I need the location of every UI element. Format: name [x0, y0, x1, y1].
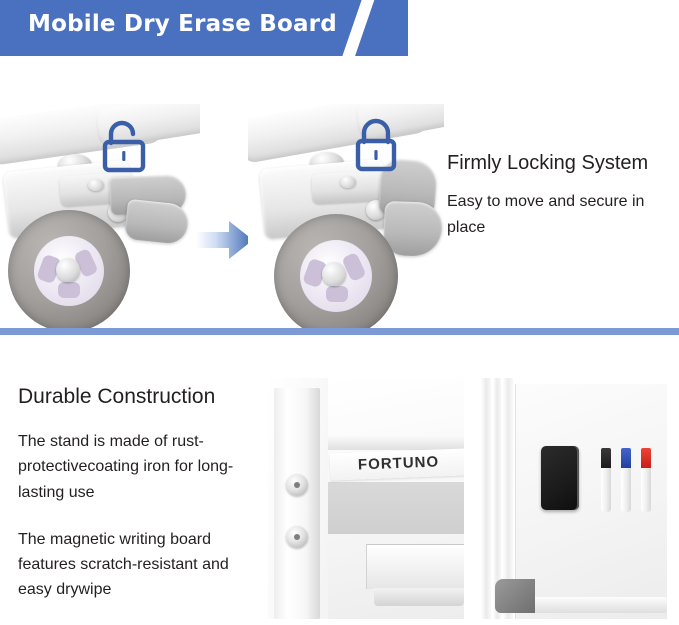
caster-locked-photo [248, 104, 444, 330]
blue-marker [621, 448, 631, 512]
marker-barrel [601, 466, 611, 512]
marker-barrel [621, 466, 631, 512]
caster-unlocked-photo [0, 104, 200, 330]
board-top-rail [328, 436, 464, 450]
whiteboard-accessories-photo [477, 378, 667, 619]
board-corner-bracket [495, 579, 535, 613]
durable-construction-section: Durable Construction The stand is made o… [0, 335, 679, 619]
marker-tray-lip [374, 588, 464, 606]
hub-spoke [326, 286, 348, 302]
durable-construction-heading: Durable Construction [18, 385, 266, 409]
wheel-axle [56, 258, 80, 282]
red-marker [641, 448, 651, 512]
durable-paragraph-2: The magnetic writing board features scra… [18, 527, 266, 603]
marker-barrel [641, 466, 651, 512]
locking-system-heading: Firmly Locking System [447, 152, 679, 175]
marker-cap [601, 448, 611, 468]
board-gray-band [328, 482, 464, 534]
board-frame-edge [481, 378, 491, 619]
brand-plate: FORTUNO [330, 448, 464, 480]
board-bottom-rail [529, 597, 667, 613]
locking-system-text-block: Firmly Locking System Easy to move and s… [447, 152, 679, 241]
marker-cap [641, 448, 651, 468]
header-banner: Mobile Dry Erase Board [0, 0, 408, 56]
marker-tray [366, 544, 464, 589]
frame-bolt [286, 474, 308, 496]
section-divider [0, 328, 679, 335]
hub-spoke [58, 282, 80, 298]
locking-system-body: Easy to move and secure in place [447, 189, 679, 241]
durable-paragraph-1: The stand is made of rust-protectivecoat… [18, 429, 266, 505]
unlocked-padlock-icon [98, 118, 150, 181]
black-marker [601, 448, 611, 512]
right-arrow-icon [196, 219, 254, 261]
brand-label: FORTUNO [358, 453, 440, 473]
frame-bolt [286, 526, 308, 548]
frame-post-photo: FORTUNO [268, 378, 464, 619]
frame-post [274, 388, 320, 619]
wheel-axle [322, 262, 346, 286]
page-title: Mobile Dry Erase Board [28, 11, 337, 37]
marker-cap [621, 448, 631, 468]
magnetic-eraser [541, 446, 579, 510]
banner-slash-decoration [341, 0, 375, 56]
locking-system-section: Firmly Locking System Easy to move and s… [0, 56, 679, 330]
durable-construction-text-block: Durable Construction The stand is made o… [18, 385, 266, 625]
locked-padlock-icon [350, 116, 402, 179]
